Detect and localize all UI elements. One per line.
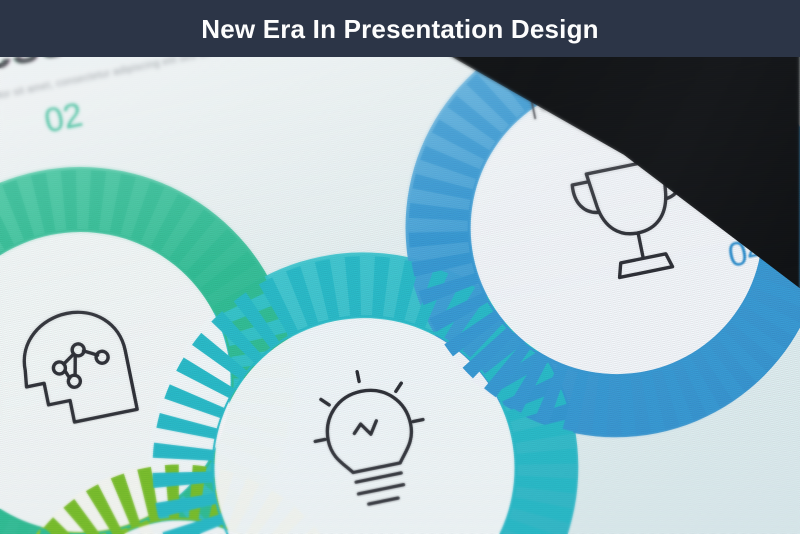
screenshot-root: 02 04 siness Model Lorem ipsum dolor sit… bbox=[0, 0, 800, 534]
head-network-icon bbox=[0, 290, 163, 465]
lightbulb-icon bbox=[282, 347, 462, 534]
photo-scene: 02 04 siness Model Lorem ipsum dolor sit… bbox=[0, 0, 800, 534]
title-banner: New Era In Presentation Design bbox=[0, 0, 800, 57]
banner-title: New Era In Presentation Design bbox=[201, 16, 599, 42]
